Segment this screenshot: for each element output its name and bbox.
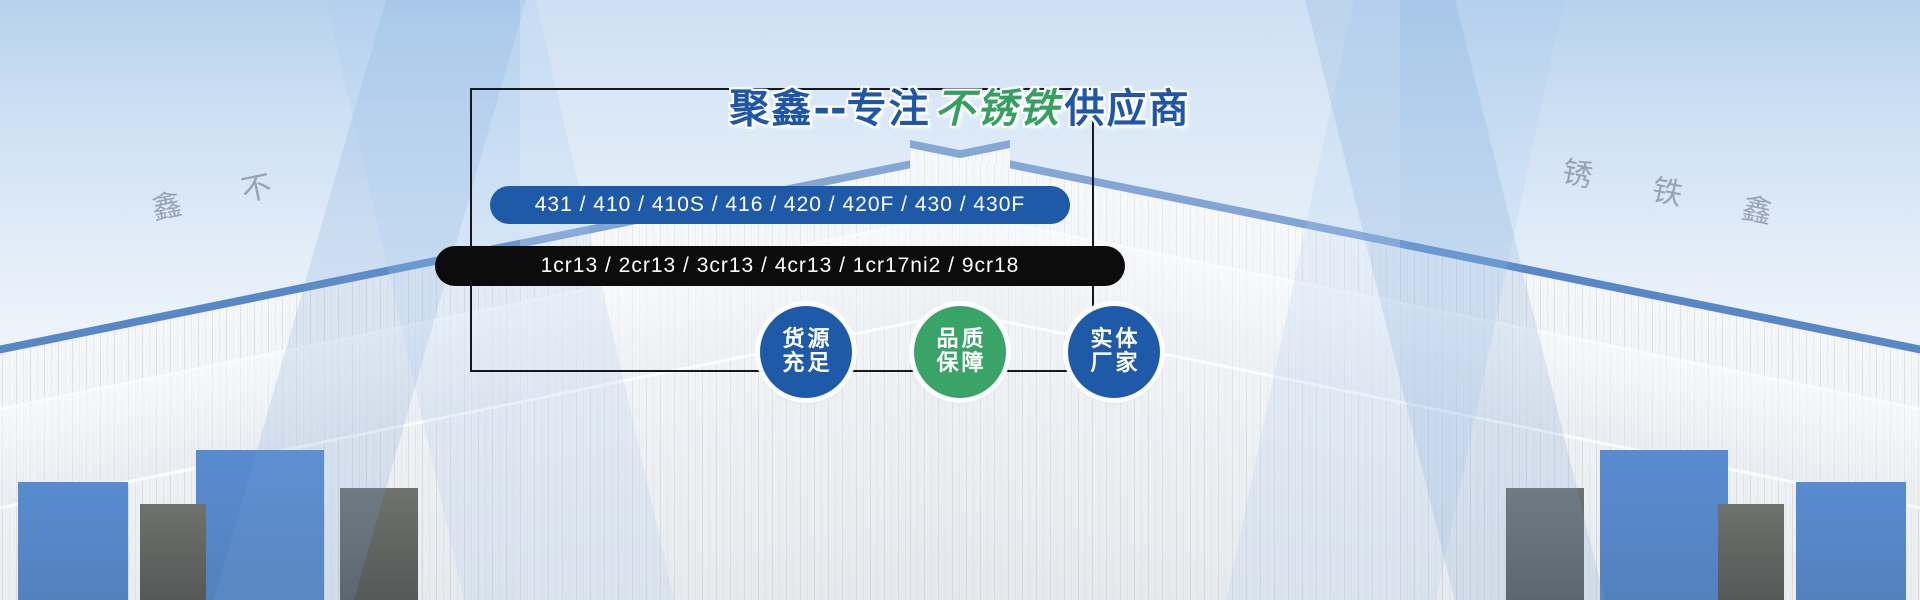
factory-window-1 xyxy=(140,504,206,600)
promo-banner: 鑫 不 锈 铁 鑫 聚鑫--专注不锈铁供应商 431 / 410 / 410S … xyxy=(0,0,1920,600)
factory-door-1 xyxy=(18,482,128,600)
badge-factory-line1: 实体 xyxy=(1087,328,1140,352)
grade-bar-secondary: 1cr13 / 2cr13 / 3cr13 / 4cr13 / 1cr17ni2… xyxy=(435,246,1125,286)
headline-brand: 聚鑫 xyxy=(729,86,813,132)
factory-window-4 xyxy=(1718,504,1784,600)
headline-dash: -- xyxy=(813,86,846,132)
headline-highlight: 不锈铁 xyxy=(931,86,1065,132)
badge-quality-line1: 品质 xyxy=(933,328,986,352)
headline-focus: 专注 xyxy=(847,86,931,132)
feature-badge-group: 货源 充足 品质 保障 实体 厂家 xyxy=(0,306,1920,398)
badge-quality: 品质 保障 xyxy=(914,306,1006,398)
badge-supply: 货源 充足 xyxy=(760,306,852,398)
factory-door-4 xyxy=(1796,482,1906,600)
banner-headline: 聚鑫--专注不锈铁供应商 xyxy=(0,76,1920,134)
factory-window-3 xyxy=(1506,488,1584,600)
factory-door-2 xyxy=(196,450,324,600)
headline-suffix: 供应商 xyxy=(1065,86,1191,132)
grade-bar-primary: 431 / 410 / 410S / 416 / 420 / 420F / 43… xyxy=(490,186,1070,224)
factory-window-2 xyxy=(340,488,418,600)
badge-quality-line2: 保障 xyxy=(933,352,986,376)
badge-factory-line2: 厂家 xyxy=(1087,352,1140,376)
badge-factory: 实体 厂家 xyxy=(1068,306,1160,398)
badge-supply-line2: 充足 xyxy=(779,352,832,376)
factory-door-3 xyxy=(1600,450,1728,600)
badge-supply-line1: 货源 xyxy=(779,328,832,352)
